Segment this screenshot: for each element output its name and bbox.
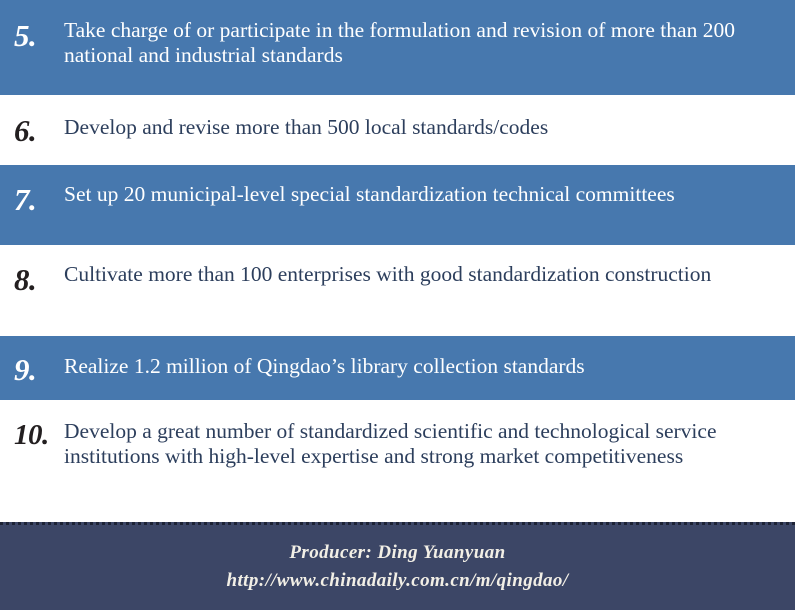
numbered-list: 5. Take charge of or participate in the … bbox=[0, 0, 795, 520]
list-item: 5. Take charge of or participate in the … bbox=[0, 0, 795, 95]
list-item-number: 9. bbox=[14, 354, 64, 385]
list-item-number: 7. bbox=[14, 182, 64, 215]
list-item-number: 10. bbox=[14, 419, 64, 450]
infographic-page: 5. Take charge of or participate in the … bbox=[0, 0, 799, 610]
footer: Producer: Ding Yuanyuan http://www.china… bbox=[0, 522, 795, 610]
list-item-text: Take charge of or participate in the for… bbox=[64, 18, 785, 68]
list-item-number: 6. bbox=[14, 115, 64, 146]
list-item-number: 8. bbox=[14, 262, 64, 295]
footer-url[interactable]: http://www.chinadaily.com.cn/m/qingdao/ bbox=[0, 566, 795, 596]
list-item: 10. Develop a great number of standardiz… bbox=[0, 400, 795, 520]
list-item: 7. Set up 20 municipal-level special sta… bbox=[0, 165, 795, 245]
list-item-text: Develop a great number of standardized s… bbox=[64, 419, 785, 469]
list-item: 8. Cultivate more than 100 enterprises w… bbox=[0, 245, 795, 336]
list-item-text: Set up 20 municipal-level special standa… bbox=[64, 182, 785, 207]
list-item: 6. Develop and revise more than 500 loca… bbox=[0, 95, 795, 165]
footer-producer: Producer: Ding Yuanyuan bbox=[0, 539, 795, 566]
list-item-number: 5. bbox=[14, 18, 64, 51]
list-item-text: Realize 1.2 million of Qingdao’s library… bbox=[64, 354, 785, 379]
list-item-text: Develop and revise more than 500 local s… bbox=[64, 115, 785, 140]
list-item-text: Cultivate more than 100 enterprises with… bbox=[64, 262, 785, 287]
list-item: 9. Realize 1.2 million of Qingdao’s libr… bbox=[0, 336, 795, 400]
